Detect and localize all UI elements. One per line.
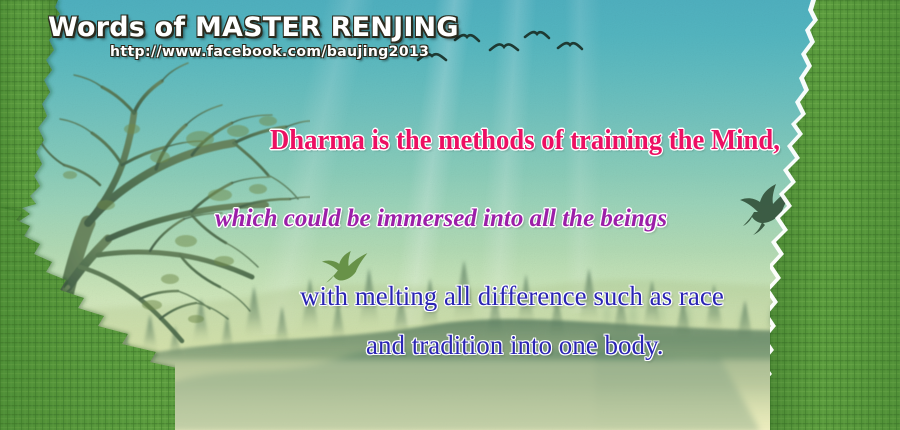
- brand-title: Words of MASTER RENJING: [48, 12, 459, 43]
- poster-canvas: Words of MASTER RENJING http://www.faceb…: [0, 0, 900, 430]
- quote-line-3: with melting all difference such as race: [300, 281, 724, 312]
- right-torn-border: [770, 0, 900, 430]
- brand-facebook-url[interactable]: http://www.facebook.com/baujing2013: [110, 44, 429, 60]
- quote-line-4: and tradition into one body.: [366, 330, 663, 361]
- left-torn-border: [0, 0, 175, 430]
- quote-line-2: which could be immersed into all the bei…: [215, 205, 667, 233]
- quote-line-1: Dharma is the methods of training the Mi…: [270, 124, 780, 157]
